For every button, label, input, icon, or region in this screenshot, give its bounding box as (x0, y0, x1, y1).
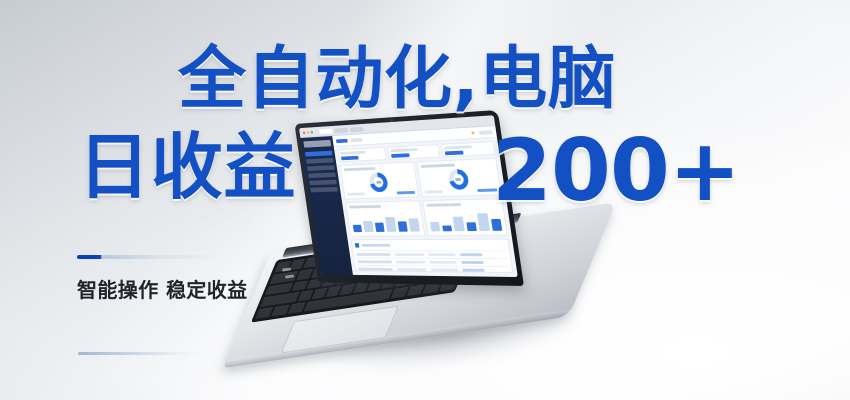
dashboard-app (300, 126, 517, 277)
stat-label (391, 148, 418, 152)
sidebar-item-accounts[interactable] (308, 172, 336, 178)
dashboard-card-grid (336, 155, 512, 240)
card-metric-highlight (396, 191, 414, 194)
sidebar-item-settings[interactable] (309, 180, 337, 185)
stat-label (340, 151, 366, 155)
browser-tabs (319, 126, 364, 133)
bar-chart (428, 211, 502, 231)
card-metric (347, 192, 364, 195)
card-metric-highlight (477, 188, 497, 192)
stat-value (444, 151, 463, 156)
data-table (351, 239, 514, 273)
donut-center-label (376, 181, 381, 184)
card-title (344, 167, 376, 171)
sidebar-item-overview[interactable] (305, 151, 333, 157)
laptop-mockup (270, 108, 620, 360)
stat-value (341, 156, 358, 160)
accent-rule (77, 255, 223, 259)
card-title (349, 205, 381, 208)
chart-card-donut (340, 162, 419, 200)
card-footer (424, 188, 497, 193)
donut-center-label (455, 178, 461, 181)
chart-card-bar (422, 198, 508, 236)
topbar-user-chip[interactable] (479, 130, 493, 135)
card-footer (347, 191, 415, 196)
subtitle-text: 智能操作 稳定收益 (77, 274, 248, 303)
close-icon[interactable] (303, 131, 306, 134)
star-icon (470, 130, 475, 135)
table-title (361, 244, 390, 247)
browser-tab[interactable] (334, 127, 348, 132)
browser-tab[interactable] (350, 126, 364, 131)
sidebar-item-tasks[interactable] (306, 158, 334, 164)
table-row[interactable] (358, 265, 510, 273)
card-metric (424, 190, 443, 193)
card-title (426, 203, 461, 207)
browser-tab[interactable] (319, 128, 332, 133)
topbar-spacer (366, 133, 467, 139)
sidebar-item-logs[interactable] (310, 187, 338, 192)
baseline-rule (78, 352, 206, 355)
sidebar-brand (303, 140, 331, 148)
stat-label (444, 145, 473, 149)
chart-card-donut (416, 158, 502, 198)
stat-value (391, 153, 409, 158)
chart-card-bar (345, 200, 424, 236)
table-row[interactable] (359, 272, 511, 273)
table-header (355, 243, 506, 248)
laptop-lid (294, 110, 524, 286)
topbar-action-primary[interactable] (336, 138, 348, 142)
card-title (420, 164, 455, 168)
dashboard-main (332, 126, 518, 277)
promo-banner: 全自动化,电脑 日收益 200+ 智能操作 稳定收益 (0, 0, 850, 400)
sidebar-item-reports[interactable] (307, 165, 335, 171)
topbar-action[interactable] (351, 137, 363, 141)
table-icon (355, 243, 360, 248)
maximize-icon[interactable] (310, 130, 313, 133)
laptop-screen (299, 115, 518, 277)
bar-chart (351, 213, 419, 232)
minimize-icon[interactable] (306, 131, 309, 134)
